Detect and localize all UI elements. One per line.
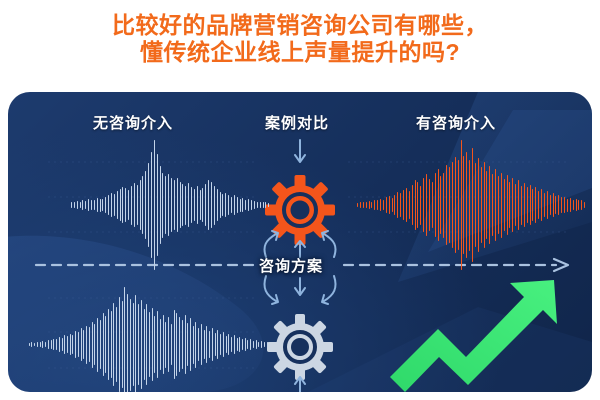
waveform-bar: [182, 184, 183, 227]
waveform-bar: [547, 191, 548, 220]
waveform-bar: [267, 342, 268, 348]
waveform-bar: [162, 173, 163, 238]
waveform-bar: [223, 332, 224, 357]
waveform-bar: [581, 200, 582, 209]
waveform-bar: [100, 320, 101, 369]
waveform-bar: [185, 186, 186, 225]
waveform-bar: [114, 194, 115, 216]
waveform-bar: [466, 152, 467, 259]
waveform-bar: [174, 180, 175, 229]
waveform-bar: [254, 201, 255, 209]
waveform-bar: [357, 203, 358, 207]
waveform-bar: [555, 196, 556, 214]
waveform-bar: [215, 333, 216, 356]
waveform-bar: [449, 167, 450, 242]
waveform-bar: [463, 156, 464, 255]
waveform-bar: [515, 184, 516, 227]
waveform-bar: [182, 320, 183, 368]
waveform-bar: [386, 197, 387, 213]
waveform-bar: [558, 195, 559, 216]
waveform-bar: [264, 342, 265, 347]
waveform-bar: [420, 186, 421, 225]
waveform-bar: [550, 195, 551, 216]
waveform-bar: [31, 342, 32, 347]
waveform-bar: [204, 330, 205, 360]
waveform-bar: [509, 182, 510, 229]
waveform-bar: [245, 338, 246, 351]
waveform-bar: [578, 200, 579, 209]
waveform-bar: [209, 331, 210, 358]
waveform-bar: [389, 196, 390, 214]
waveform-bar: [191, 187, 192, 223]
waveform-bar: [429, 179, 430, 231]
waveform-bar: [97, 198, 98, 212]
waveform-no-consulting-lower: [28, 287, 268, 392]
waveform-bar: [180, 182, 181, 229]
gear-icon[interactable]: [267, 314, 333, 380]
waveform-bar: [188, 183, 189, 227]
waveform-bar: [541, 189, 542, 222]
waveform-bar: [228, 334, 229, 356]
waveform-bar: [62, 338, 63, 351]
waveform-bar: [231, 197, 232, 214]
waveform-bar: [256, 340, 257, 348]
waveform-bar: [220, 192, 221, 218]
waveform-bar: [124, 287, 125, 392]
waveform-bar: [527, 187, 528, 223]
waveform-bar: [461, 140, 462, 270]
waveform-bar: [128, 190, 129, 220]
waveform-bar: [392, 198, 393, 212]
waveform-bar: [234, 195, 235, 216]
waveform-bar: [265, 202, 266, 207]
waveform-bar: [409, 191, 410, 220]
waveform-bar: [113, 303, 114, 386]
waveform-bar: [141, 300, 142, 390]
waveform-bar: [535, 187, 536, 223]
waveform-bar: [174, 310, 175, 379]
waveform-bar: [567, 199, 568, 212]
waveform-bar: [250, 339, 251, 349]
waveform-bar: [501, 173, 502, 238]
waveform-bar: [157, 311, 158, 378]
waveform-no-consulting: [70, 140, 270, 270]
title-line-2: 懂传统企业线上声量提升的吗?: [0, 39, 600, 66]
waveform-bar: [165, 322, 166, 368]
waveform-bar: [538, 191, 539, 220]
waveform-bar: [268, 203, 269, 207]
waveform-bar: [187, 323, 188, 367]
waveform-bar: [242, 198, 243, 212]
waveform-bar: [168, 174, 169, 235]
waveform-bar: [222, 194, 223, 216]
waveform-bar: [475, 163, 476, 246]
waveform-bar: [212, 328, 213, 360]
waveform-bar: [137, 185, 138, 225]
waveform-bar: [122, 187, 123, 223]
waveform-bar: [138, 304, 139, 385]
waveform-bar: [40, 342, 41, 347]
waveform-bar: [195, 322, 196, 368]
waveform-bar: [71, 202, 72, 207]
waveform-bar: [116, 307, 117, 383]
waveform-bar: [374, 200, 375, 210]
waveform-bar: [248, 199, 249, 211]
waveform-bar: [240, 199, 241, 212]
waveform-bar: [492, 174, 493, 236]
waveform-bar: [258, 342, 259, 348]
waveform-bar: [446, 165, 447, 246]
waveform-bar: [92, 322, 93, 368]
waveform-bar: [85, 201, 86, 209]
waveform-bar: [149, 312, 150, 376]
waveform-bar: [152, 308, 153, 382]
waveform-bar: [225, 193, 226, 218]
waveform-bar: [406, 188, 407, 222]
waveform-bar: [245, 200, 246, 210]
waveform-bar: [190, 318, 191, 371]
waveform-bar: [363, 202, 364, 209]
waveform-bar: [415, 180, 416, 229]
waveform-bar: [194, 189, 195, 222]
waveform-bar: [521, 186, 522, 225]
waveform-bar: [75, 331, 76, 358]
waveform-bar: [257, 202, 258, 209]
waveform-bar: [154, 140, 155, 270]
infographic-stage: 比较好的品牌营销咨询公司有哪些， 懂传统企业线上声量提升的吗?: [0, 0, 600, 400]
waveform-bar: [127, 294, 128, 392]
waveform-bar: [205, 184, 206, 227]
waveform-bar: [82, 200, 83, 209]
waveform-bar: [570, 198, 571, 212]
waveform-bar: [86, 326, 87, 364]
waveform-bar: [42, 341, 43, 348]
waveform-bar: [211, 182, 212, 229]
plan-label: 咨询方案: [259, 255, 323, 276]
waveform-bar: [217, 189, 218, 220]
waveform-bar: [489, 166, 490, 244]
waveform-bar: [59, 337, 60, 352]
curved-arrow-icon: [264, 276, 335, 304]
comparison-panel: 无咨询介入 案例对比 有咨询介入 咨询方案: [8, 92, 592, 392]
waveform-bar: [168, 317, 169, 372]
waveform-bar: [83, 330, 84, 359]
waveform-bar: [371, 202, 372, 209]
waveform-bar: [504, 179, 505, 231]
waveform-bar: [208, 180, 209, 231]
waveform-bar: [360, 202, 361, 207]
waveform-bar: [377, 200, 378, 209]
waveform-bar: [484, 162, 485, 248]
waveform-bar: [125, 188, 126, 222]
column-label-no-consulting: 无咨询介入: [93, 112, 173, 133]
waveform-bar: [140, 180, 141, 229]
waveform-bar: [237, 338, 238, 351]
waveform-bar: [544, 193, 545, 218]
waveform-bar: [102, 199, 103, 211]
waveform-bar: [532, 189, 533, 222]
waveform-bar: [239, 337, 240, 352]
waveform-bar: [117, 191, 118, 218]
waveform-bar: [134, 183, 135, 227]
waveform-bar: [440, 176, 441, 233]
column-label-with-consulting: 有咨询介入: [416, 112, 496, 133]
waveform-bar: [561, 197, 562, 213]
waveform-bar: [80, 202, 81, 209]
title-line-1: 比较好的品牌营销咨询公司有哪些，: [0, 12, 600, 39]
waveform-bar: [53, 339, 54, 351]
waveform-bar: [397, 192, 398, 218]
waveform-bar: [97, 318, 98, 372]
waveform-bar: [237, 197, 238, 213]
waveform-bar: [486, 171, 487, 239]
connector-label-to-gear: [295, 140, 305, 162]
waveform-bar: [29, 343, 30, 346]
waveform-bar: [198, 328, 199, 361]
waveform-bar: [403, 190, 404, 220]
waveform-bar: [200, 190, 201, 220]
waveform-bar: [67, 336, 68, 352]
waveform-bar: [64, 335, 65, 353]
waveform-bar: [144, 309, 145, 380]
waveform-bar: [163, 315, 164, 375]
waveform-bar: [518, 180, 519, 229]
waveform-bar: [220, 334, 221, 355]
waveform-bar: [77, 201, 78, 209]
waveform-bar: [37, 342, 38, 348]
waveform-bar: [94, 324, 95, 365]
waveform-bar: [412, 185, 413, 225]
waveform-bar: [400, 193, 401, 216]
waveform-bar: [498, 176, 499, 233]
waveform-bar: [179, 317, 180, 372]
waveform-bar: [193, 326, 194, 364]
waveform-bar: [146, 304, 147, 385]
waveform-bar: [472, 148, 473, 262]
waveform-bar: [481, 167, 482, 242]
waveform-bar: [108, 309, 109, 380]
waveform-bar: [530, 185, 531, 225]
waveform-bar: [78, 332, 79, 356]
waveform-bar: [242, 339, 243, 349]
waveform-bar: [70, 334, 71, 356]
waveform-bar: [226, 336, 227, 353]
waveform-bar: [455, 157, 456, 253]
waveform-bar: [202, 188, 203, 222]
waveform-bar: [119, 297, 120, 391]
waveform-bar: [383, 200, 384, 210]
column-label-case-comparison: 案例对比: [265, 112, 329, 133]
waveform-bar: [217, 330, 218, 359]
waveform-bar: [100, 199, 101, 212]
waveform-bar: [206, 326, 207, 363]
waveform-bar: [111, 193, 112, 218]
waveform-bar: [103, 313, 104, 376]
waveform-bar: [366, 202, 367, 207]
waveform-bar: [584, 202, 585, 209]
waveform-bar: [380, 199, 381, 211]
waveform-bar: [507, 175, 508, 235]
waveform-bar: [177, 178, 178, 233]
waveform-bar: [452, 162, 453, 248]
waveform-bar: [426, 174, 427, 235]
waveform-bar: [105, 316, 106, 374]
waveform-bar: [120, 189, 121, 220]
waveform-bar: [148, 163, 149, 246]
waveform-bar: [261, 341, 262, 348]
waveform-bar: [48, 340, 49, 349]
waveform-bar: [160, 166, 161, 244]
waveform-bar: [417, 182, 418, 228]
waveform-bar: [157, 154, 158, 255]
waveform-bar: [94, 200, 95, 209]
waveform-bar: [369, 201, 370, 209]
waveform-bar: [253, 341, 254, 348]
waveform-bar: [260, 202, 261, 209]
waveform-bar: [495, 169, 496, 241]
waveform-bar: [135, 295, 136, 392]
waveform-bar: [234, 335, 235, 353]
waveform-bar: [432, 182, 433, 229]
waveform-bar: [228, 195, 229, 215]
waveform-bar: [443, 173, 444, 238]
waveform-bar: [197, 186, 198, 224]
waveform-bar: [394, 195, 395, 216]
waveform-bar: [131, 186, 132, 225]
waveform-bar: [34, 343, 35, 346]
waveform-bar: [423, 178, 424, 233]
waveform-bar: [231, 337, 232, 352]
waveform-bar: [111, 311, 112, 378]
waveform-bar: [524, 183, 525, 227]
waveform-bar: [45, 342, 46, 348]
waveform-bar: [171, 324, 172, 365]
waveform-bar: [435, 173, 436, 237]
waveform-bar: [171, 178, 172, 231]
waveform-bar: [81, 328, 82, 360]
waveform-bar: [72, 335, 73, 355]
waveform-bar: [214, 186, 215, 225]
waveform-bar: [89, 327, 90, 362]
waveform-bar: [108, 195, 109, 216]
waveform-bar: [91, 200, 92, 210]
page-title: 比较好的品牌营销咨询公司有哪些， 懂传统企业线上声量提升的吗?: [0, 12, 600, 66]
waveform-bar: [469, 160, 470, 251]
waveform-bar: [251, 200, 252, 209]
waveform-bar: [105, 197, 106, 214]
waveform-bar: [201, 324, 202, 365]
waveform-bar: [133, 303, 134, 386]
waveform-bar: [576, 199, 577, 211]
waveform-bar: [512, 178, 513, 233]
waveform-bar: [564, 197, 565, 214]
waveform-bar: [263, 202, 264, 207]
waveform-bar: [185, 315, 186, 375]
waveform-bar: [88, 199, 89, 211]
waveform-bar: [56, 339, 57, 349]
waveform-bar: [154, 316, 155, 374]
waveform-bar: [130, 299, 131, 391]
waveform-bar: [142, 176, 143, 233]
waveform-bar: [478, 158, 479, 252]
waveform-bar: [160, 319, 161, 370]
waveform-bar: [247, 340, 248, 349]
waveform-bar: [458, 160, 459, 250]
waveform-bar: [51, 340, 52, 348]
waveform-bar: [74, 202, 75, 209]
waveform-bar: [122, 301, 123, 388]
waveform-bar: [176, 313, 177, 376]
waveform-bar: [145, 171, 146, 239]
waveform-bar: [573, 200, 574, 210]
waveform-with-consulting: [356, 140, 586, 270]
waveform-bar: [438, 169, 439, 241]
waveform-bar: [151, 152, 152, 259]
waveform-bar: [553, 193, 554, 216]
waveform-bar: [165, 176, 166, 233]
